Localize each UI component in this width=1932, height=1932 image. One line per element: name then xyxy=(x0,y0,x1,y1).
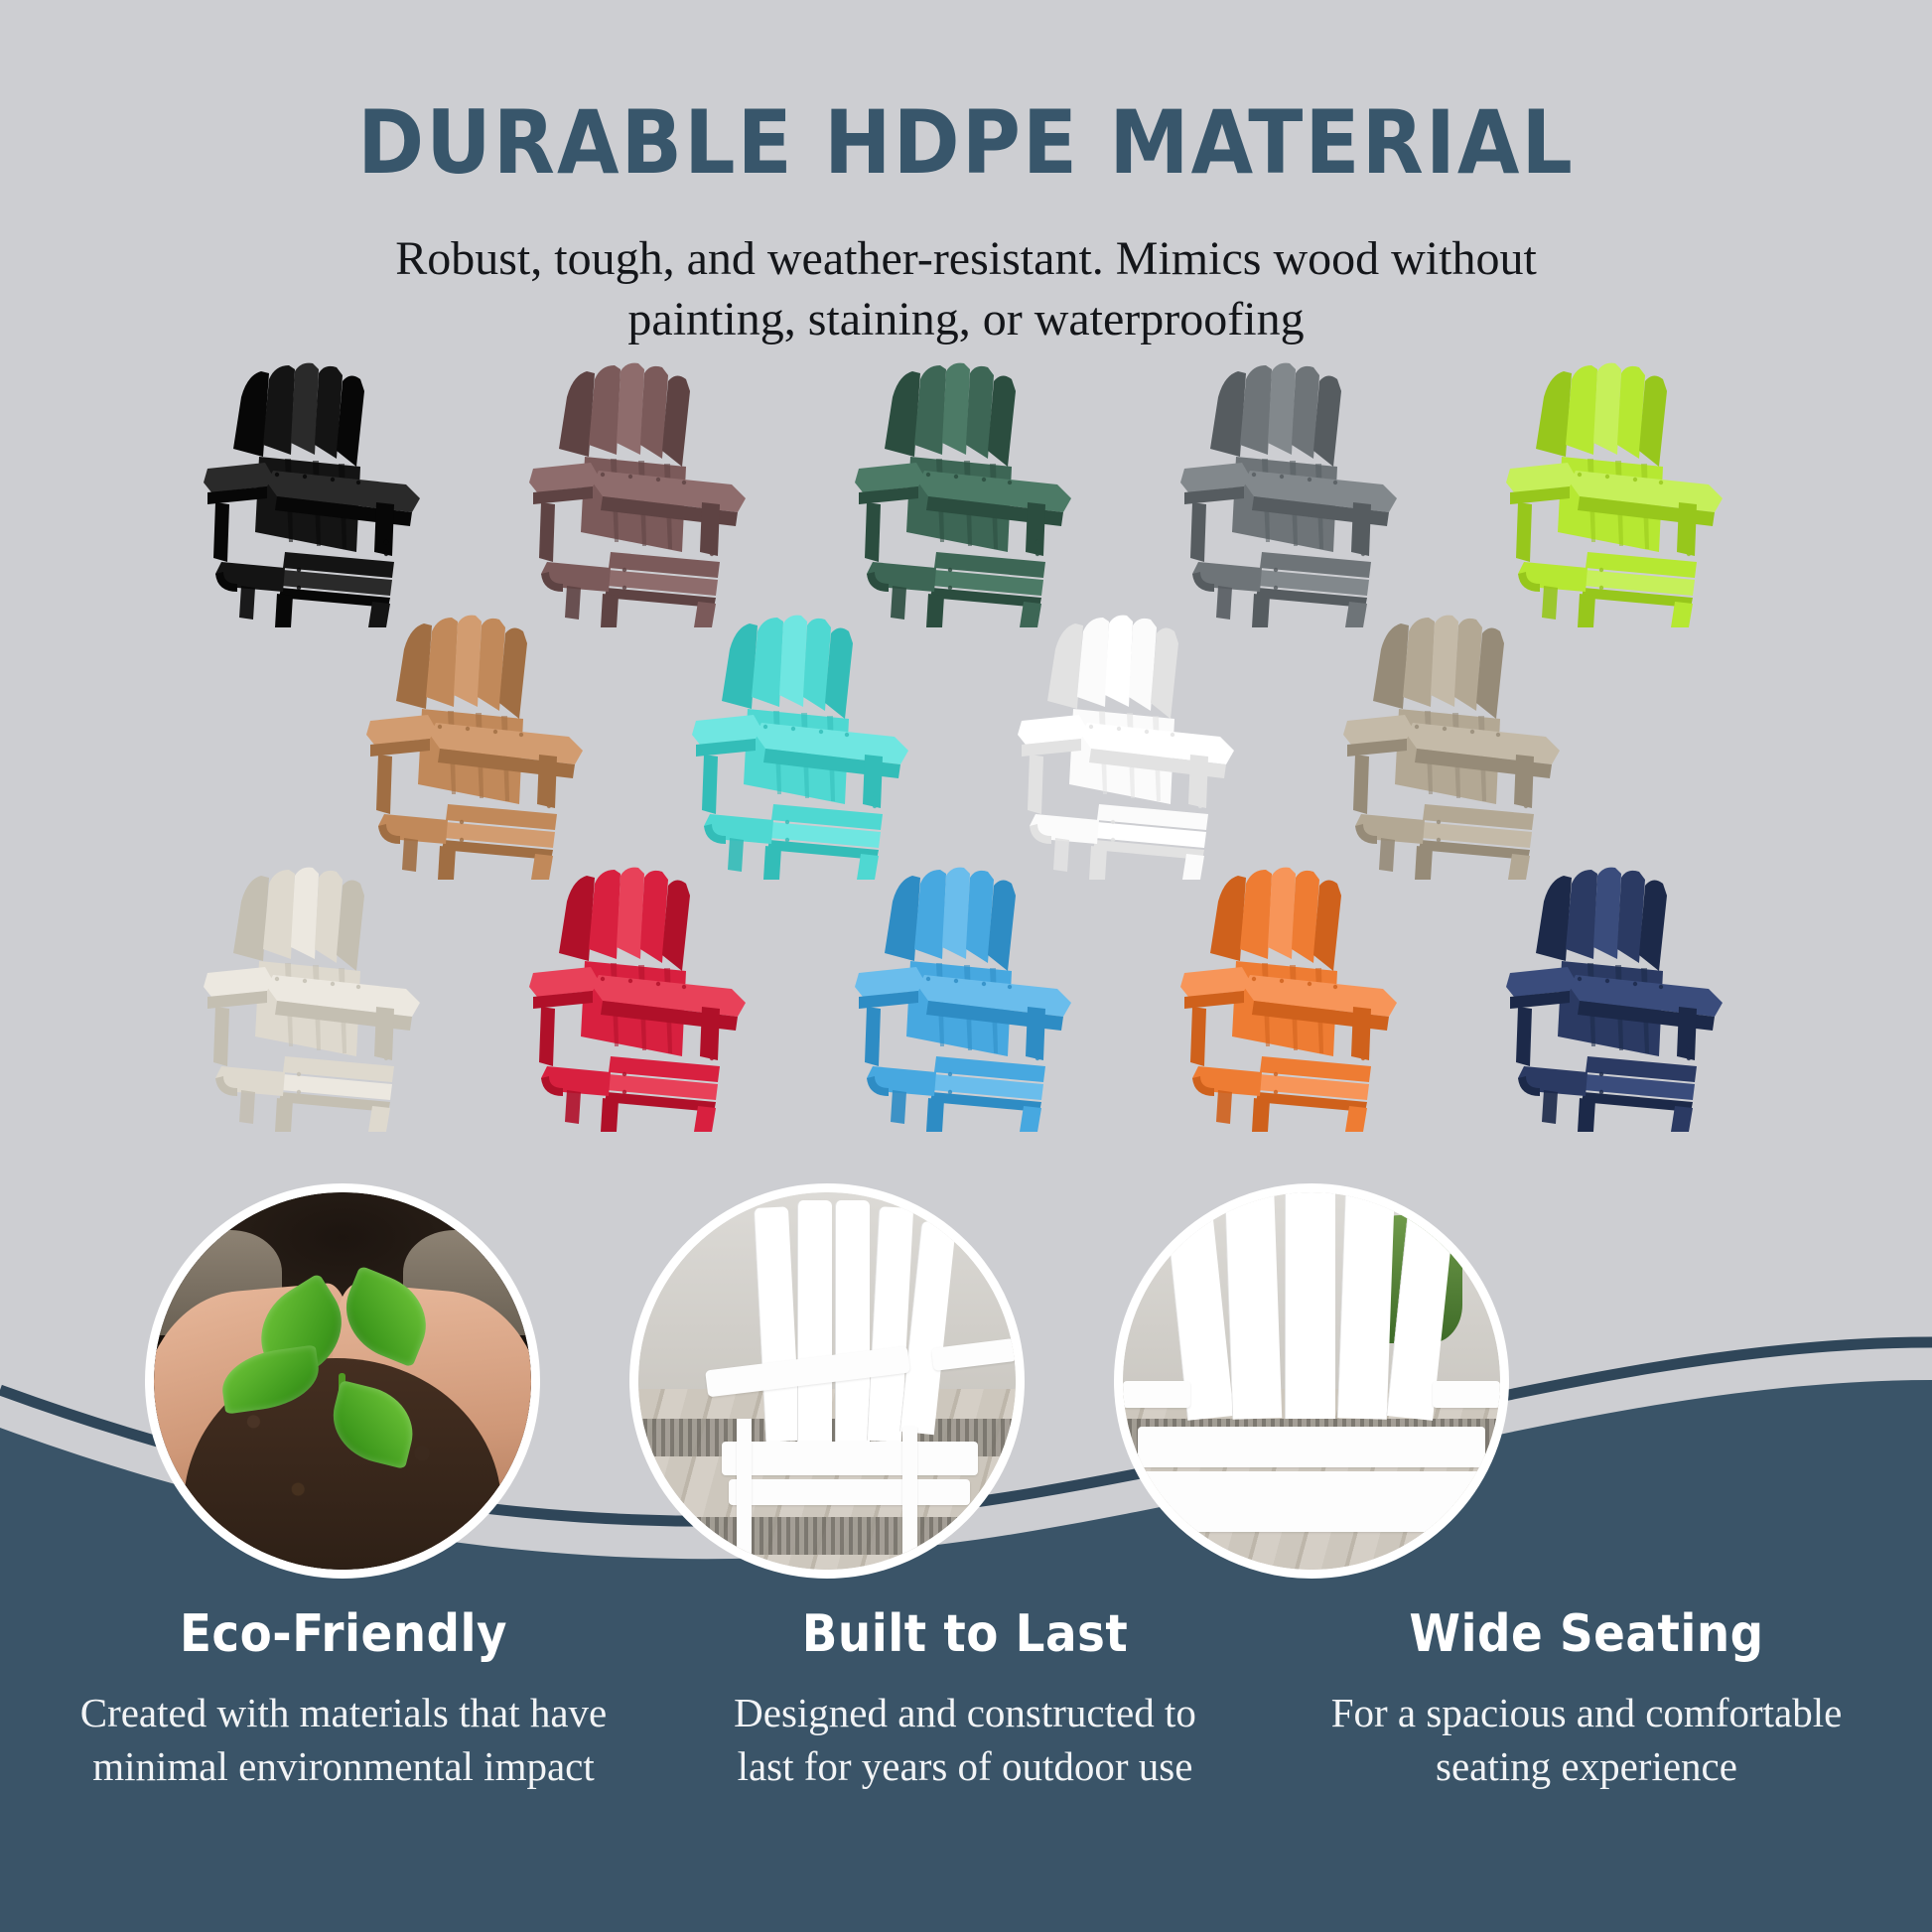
feature-title: Wide Seating xyxy=(1285,1608,1888,1660)
photo-wide-seating xyxy=(1114,1183,1509,1579)
feature-photos xyxy=(0,1183,1932,1600)
chair-swatch-red[interactable] xyxy=(507,862,773,1132)
feature-desc-line-1: Designed and constructed to xyxy=(663,1686,1267,1739)
wide-seat-chair-icon xyxy=(1123,1192,1500,1570)
feature-title: Built to Last xyxy=(663,1608,1267,1660)
chair-swatch-brown[interactable] xyxy=(507,357,773,627)
chair-row-1 xyxy=(0,357,1932,627)
chair-swatch-gray[interactable] xyxy=(1159,357,1425,627)
feature-description: Created with materials that haveminimal … xyxy=(42,1686,645,1793)
chair-swatch-teak[interactable] xyxy=(345,610,611,880)
chair-row-2 xyxy=(0,610,1932,880)
adirondack-chair-icon xyxy=(996,610,1262,880)
feature-text-row: Eco-FriendlyCreated with materials that … xyxy=(0,1608,1932,1793)
chair-swatch-sky-blue[interactable] xyxy=(833,862,1099,1132)
chair-swatch-navy-blue[interactable] xyxy=(1484,862,1750,1132)
adirondack-chair-icon xyxy=(1159,862,1425,1132)
feature-desc-line-1: For a spacious and comfortable xyxy=(1285,1686,1888,1739)
subtitle-line-2: painting, staining, or waterproofing xyxy=(291,289,1641,349)
feature-desc-line-2: last for years of outdoor use xyxy=(663,1739,1267,1793)
adirondack-chair-icon xyxy=(833,357,1099,627)
feature-desc-line-2: seating experience xyxy=(1285,1739,1888,1793)
chair-swatch-white[interactable] xyxy=(996,610,1262,880)
photo-built-to-last xyxy=(629,1183,1025,1579)
chair-swatch-black[interactable] xyxy=(182,357,448,627)
adirondack-chair-icon xyxy=(1321,610,1587,880)
feature-eco-friendly: Eco-FriendlyCreated with materials that … xyxy=(42,1608,645,1793)
chair-color-grid xyxy=(0,357,1932,1132)
feature-built-to-last: Built to LastDesigned and constructed to… xyxy=(663,1608,1267,1793)
page-subtitle: Robust, tough, and weather-resistant. Mi… xyxy=(291,228,1641,350)
adirondack-chair-icon xyxy=(1484,357,1750,627)
photo-eco-friendly xyxy=(145,1183,540,1579)
feature-desc-line-1: Created with materials that have xyxy=(42,1686,645,1739)
adirondack-chair-icon xyxy=(182,357,448,627)
chair-swatch-orange[interactable] xyxy=(1159,862,1425,1132)
adirondack-chair-icon xyxy=(1159,357,1425,627)
chair-swatch-ivory[interactable] xyxy=(182,862,448,1132)
adirondack-chair-icon xyxy=(833,862,1099,1132)
adirondack-chair-icon xyxy=(507,357,773,627)
seedling-in-hands-icon xyxy=(154,1192,531,1570)
adirondack-chair-icon xyxy=(1484,862,1750,1132)
feature-description: Designed and constructed tolast for year… xyxy=(663,1686,1267,1793)
feature-desc-line-2: minimal environmental impact xyxy=(42,1739,645,1793)
adirondack-chair-icon xyxy=(507,862,773,1132)
feature-description: For a spacious and comfortableseating ex… xyxy=(1285,1686,1888,1793)
white-adirondack-chair-icon xyxy=(638,1192,1016,1570)
chair-swatch-dark-green[interactable] xyxy=(833,357,1099,627)
chair-swatch-lime-green[interactable] xyxy=(1484,357,1750,627)
chair-swatch-turquoise[interactable] xyxy=(670,610,936,880)
page-title: DURABLE HDPE MATERIAL xyxy=(0,99,1932,187)
adirondack-chair-icon xyxy=(345,610,611,880)
infographic-canvas: DURABLE HDPE MATERIAL Robust, tough, and… xyxy=(0,0,1932,1932)
adirondack-chair-icon xyxy=(182,862,448,1132)
feature-title: Eco-Friendly xyxy=(42,1608,645,1660)
chair-row-3 xyxy=(0,862,1932,1132)
subtitle-line-1: Robust, tough, and weather-resistant. Mi… xyxy=(291,228,1641,289)
feature-wide-seating: Wide SeatingFor a spacious and comfortab… xyxy=(1285,1608,1888,1793)
adirondack-chair-icon xyxy=(670,610,936,880)
header: DURABLE HDPE MATERIAL Robust, tough, and… xyxy=(0,0,1932,350)
chair-swatch-taupe[interactable] xyxy=(1321,610,1587,880)
